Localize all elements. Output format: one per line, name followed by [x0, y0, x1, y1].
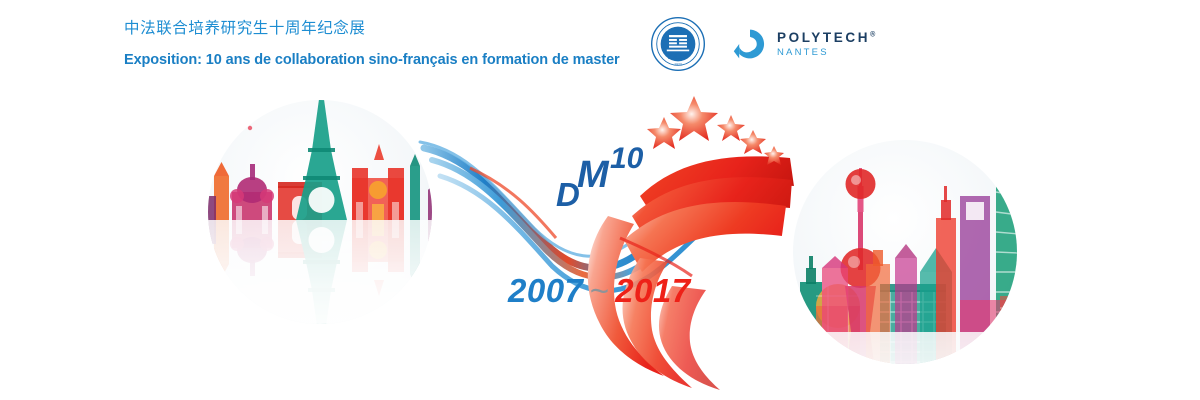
year-start: 2007 — [508, 272, 583, 309]
logo-row: 上海大学 1922 POLYTECH® NANTES — [650, 16, 875, 72]
polytech-name: POLYTECH® — [777, 31, 875, 45]
polytech-circle-arrow-icon — [732, 26, 768, 62]
polytech-nantes-logo[interactable]: POLYTECH® NANTES — [732, 26, 875, 62]
year-separator: ~ — [583, 272, 615, 309]
shanghai-circle-group — [790, 140, 1090, 400]
title-chinese: 中法联合培养研究生十周年纪念展 — [124, 18, 684, 40]
title-french: Exposition: 10 ans de collaboration sino… — [124, 50, 684, 70]
svg-text:1922: 1922 — [674, 62, 682, 66]
polytech-trademark: ® — [870, 32, 875, 39]
five-stars-icon — [647, 96, 784, 165]
exhibition-banner: 中法联合培养研究生十周年纪念展 Exposition: 10 ans de co… — [0, 0, 1200, 400]
year-range: 2007~2017 — [508, 274, 691, 307]
year-end: 2017 — [615, 272, 690, 309]
svg-text:上海大学: 上海大学 — [668, 54, 688, 61]
polytech-name-text: POLYTECH — [777, 30, 870, 45]
header-text-block: 中法联合培养研究生十周年纪念展 Exposition: 10 ans de co… — [124, 18, 684, 70]
shanghai-university-seal-icon[interactable]: 上海大学 1922 — [650, 16, 706, 72]
paris-circle-group — [204, 82, 568, 358]
polytech-campus: NANTES — [777, 48, 875, 58]
